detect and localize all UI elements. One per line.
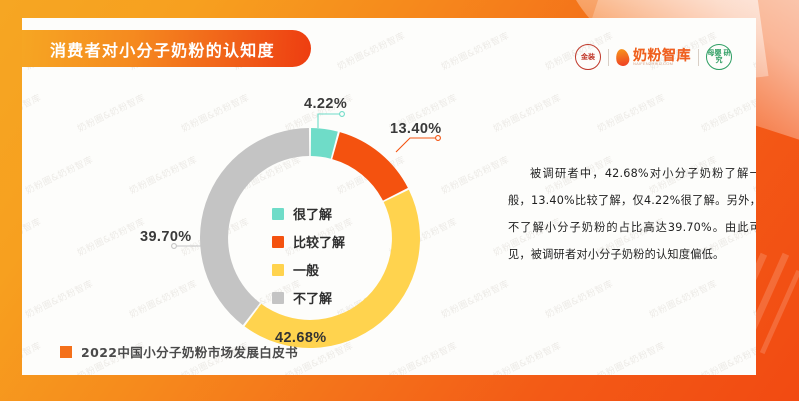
chart-legend: 很了解比较了解一般不了解 <box>272 204 345 307</box>
content-card: 奶粉圈&奶粉智库奶粉圈&奶粉智库奶粉圈&奶粉智库奶粉圈&奶粉智库奶粉圈&奶粉智库… <box>22 18 756 375</box>
legend-item-label: 一般 <box>293 260 319 279</box>
watermark-text: 奶粉圈&奶粉智库 <box>22 338 43 375</box>
slice-value-label-bijiao-liaojie: 13.40% <box>390 121 442 137</box>
watermark-text: 奶粉圈&奶粉智库 <box>127 152 199 196</box>
logo-wordmark-main: 奶粉智库 <box>633 48 691 62</box>
watermark-text: 奶粉圈&奶粉智库 <box>75 214 147 258</box>
legend-color-swatch <box>272 292 284 304</box>
logo-badge-left-icon: 金装 <box>575 44 601 70</box>
logo-wordmark: 奶粉智库 NAIFENZHIKU.COM <box>633 48 691 66</box>
watermark-text: 奶粉圈&奶粉智库 <box>335 28 407 72</box>
logo-divider <box>698 49 699 66</box>
watermark-text: 奶粉圈&奶粉智库 <box>491 90 563 134</box>
watermark-text: 奶粉圈&奶粉智库 <box>751 28 756 72</box>
watermark-text: 奶粉圈&奶粉智库 <box>439 276 511 320</box>
diagonal-stripe-decoration <box>760 270 799 354</box>
watermark-text: 奶粉圈&奶粉智库 <box>491 338 563 375</box>
watermark-text: 奶粉圈&奶粉智库 <box>439 28 511 72</box>
watermark-text: 奶粉圈&奶粉智库 <box>127 276 199 320</box>
legend-color-swatch <box>272 208 284 220</box>
watermark-text: 奶粉圈&奶粉智库 <box>22 214 43 258</box>
watermark-text: 奶粉圈&奶粉智库 <box>699 338 756 375</box>
leader-line <box>318 114 342 128</box>
watermark-text: 奶粉圈&奶粉智库 <box>751 276 756 320</box>
watermark-text: 奶粉圈&奶粉智库 <box>439 152 511 196</box>
slide-title-banner: 消费者对小分子奶粉的认知度 <box>22 30 311 67</box>
slice-value-label-hen-liaojie: 4.22% <box>304 96 347 112</box>
page-title: 消费者对小分子奶粉的认知度 <box>50 37 275 61</box>
legend-item[interactable]: 比较了解 <box>272 232 345 251</box>
watermark-text: 奶粉圈&奶粉智库 <box>647 276 719 320</box>
footer: 2022中国小分子奶粉市场发展白皮书 <box>60 342 298 361</box>
legend-item-label: 很了解 <box>293 204 332 223</box>
legend-item-label: 不了解 <box>293 288 332 307</box>
watermark-text: 奶粉圈&奶粉智库 <box>23 276 95 320</box>
slice-value-label-bu-liaojie: 39.70% <box>140 229 192 245</box>
logo-naifenzhiku: 奶粉智库 NAIFENZHIKU.COM <box>616 48 691 66</box>
legend-item-label: 比较了解 <box>293 232 345 251</box>
legend-item[interactable]: 很了解 <box>272 204 345 223</box>
watermark-text: 奶粉圈&奶粉智库 <box>543 276 615 320</box>
analysis-paragraph: 被调研者中，42.68%对小分子奶粉了解一般，13.40%比较了解，仅4.22%… <box>508 160 756 268</box>
watermark-text: 奶粉圈&奶粉智库 <box>23 152 95 196</box>
legend-item[interactable]: 一般 <box>272 260 345 279</box>
footer-label: 2022中国小分子奶粉市场发展白皮书 <box>81 342 298 361</box>
watermark-text: 奶粉圈&奶粉智库 <box>595 338 667 375</box>
legend-color-swatch <box>272 264 284 276</box>
slide-root: 奶粉圈&奶粉智库奶粉圈&奶粉智库奶粉圈&奶粉智库奶粉圈&奶粉智库奶粉圈&奶粉智库… <box>0 0 799 401</box>
logo-divider <box>608 49 609 66</box>
brand-logo-group: 金装 奶粉智库 NAIFENZHIKU.COM 母婴 研究 <box>575 44 732 70</box>
leader-line-endpoint <box>340 112 345 117</box>
water-drop-icon <box>615 48 631 67</box>
watermark-text: 奶粉圈&奶粉智库 <box>595 90 667 134</box>
logo-badge-right-text: 母婴 研究 <box>707 50 731 64</box>
legend-item[interactable]: 不了解 <box>272 288 345 307</box>
footer-bullet-icon <box>60 346 72 358</box>
logo-badge-right-icon: 母婴 研究 <box>706 44 732 70</box>
logo-badge-left-text: 金装 <box>581 54 595 61</box>
legend-color-swatch <box>272 236 284 248</box>
watermark-text: 奶粉圈&奶粉智库 <box>22 90 43 134</box>
donut-slice[interactable] <box>332 132 408 201</box>
watermark-text: 奶粉圈&奶粉智库 <box>699 90 756 134</box>
watermark-text: 奶粉圈&奶粉智库 <box>75 90 147 134</box>
